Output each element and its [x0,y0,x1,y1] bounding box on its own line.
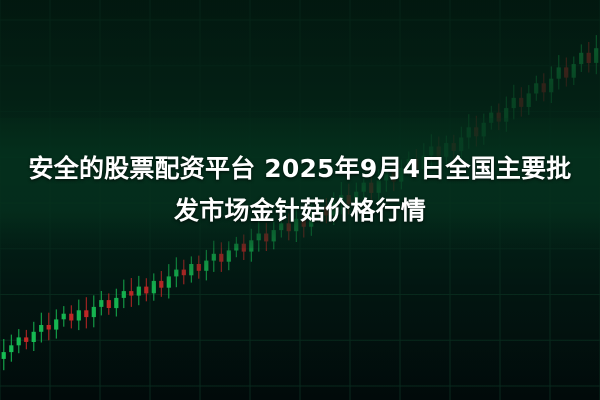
image-canvas: 安全的股票配资平台 2025年9月4日全国主要批发市场金针菇价格行情 [0,0,600,400]
headline-text: 安全的股票配资平台 2025年9月4日全国主要批发市场金针菇价格行情 [0,148,600,232]
